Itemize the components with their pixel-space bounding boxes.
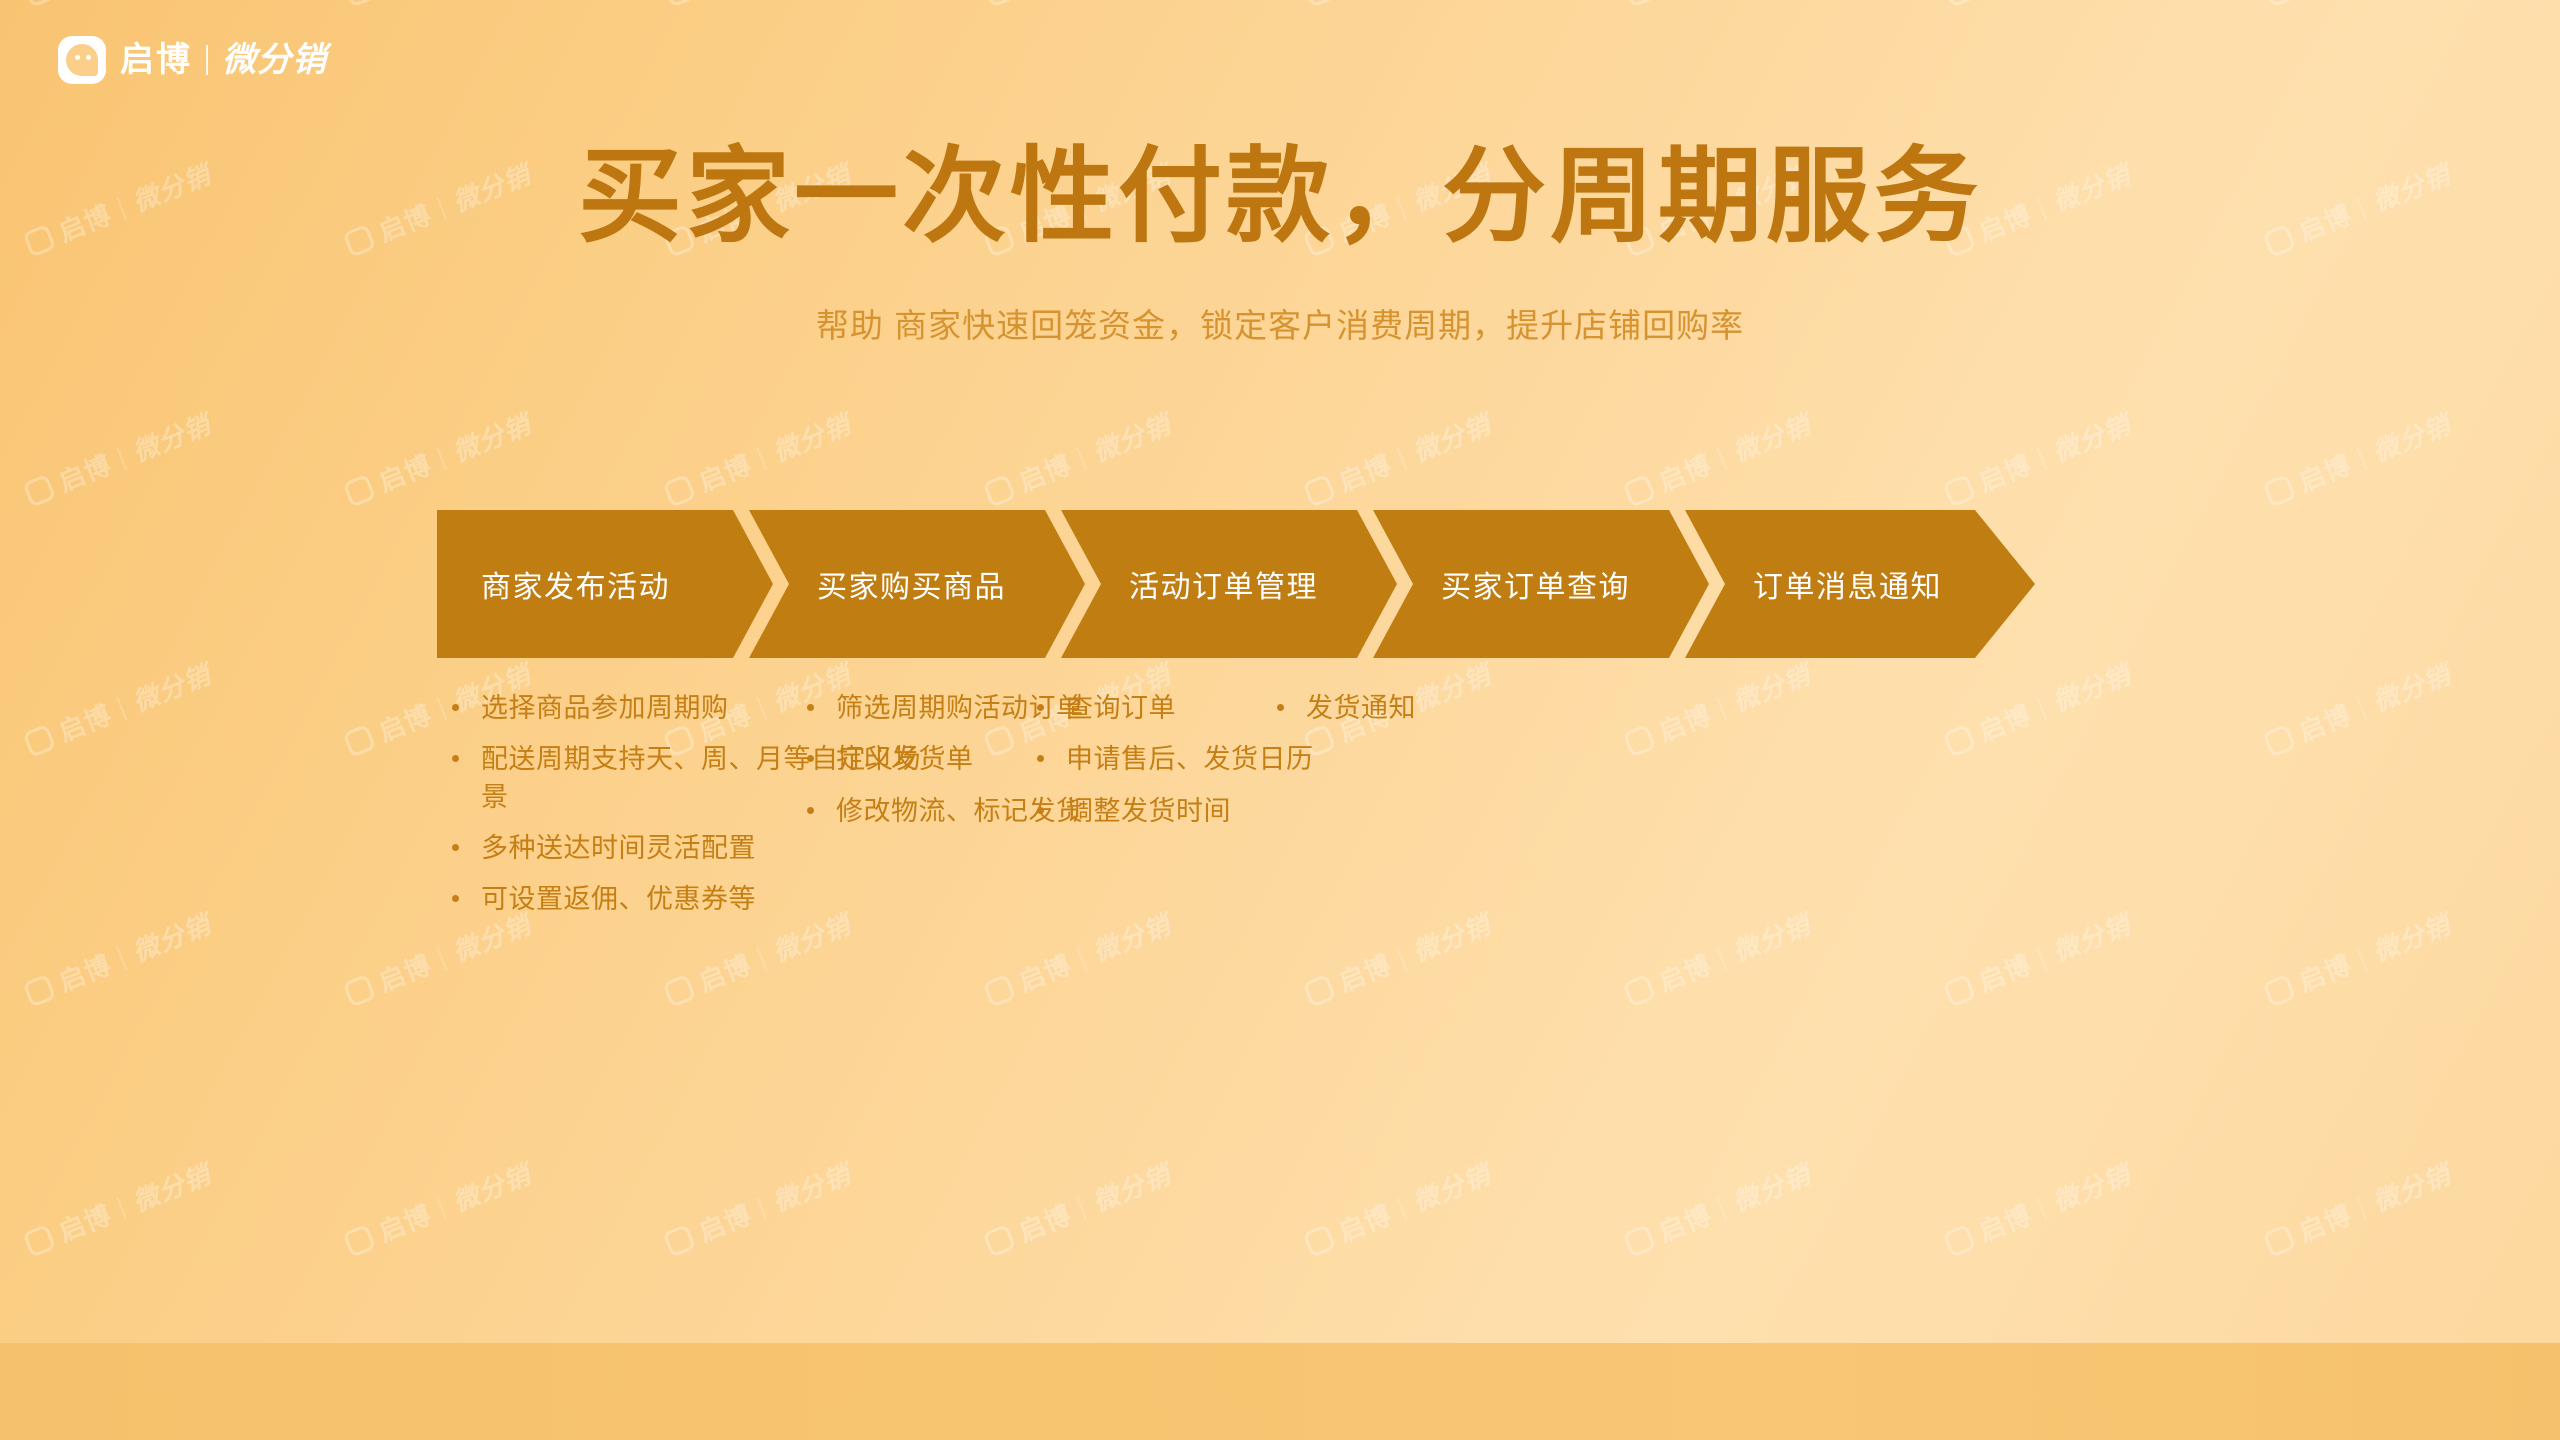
watermark-mark-icon xyxy=(982,1223,1016,1257)
watermark-separator: | xyxy=(2032,941,2051,973)
watermark-separator: | xyxy=(1392,441,1411,473)
watermark-separator: | xyxy=(2352,441,2371,473)
watermark-mark-icon xyxy=(982,473,1016,507)
bullet-dot-icon xyxy=(452,895,459,902)
watermark-name: 启博 xyxy=(373,1195,437,1250)
watermark-mark-icon xyxy=(1622,973,1656,1007)
watermark-logo: 启博|微分销 xyxy=(2260,655,2455,763)
watermark-separator: | xyxy=(752,1191,771,1223)
watermark-separator: | xyxy=(752,441,771,473)
watermark-name: 启博 xyxy=(1333,445,1397,500)
watermark-logo: 启博|微分销 xyxy=(660,405,855,513)
watermark-sub-name: 微分销 xyxy=(2367,405,2456,470)
watermark-sub-name: 微分销 xyxy=(1727,1155,1816,1220)
watermark-sub-name: 微分销 xyxy=(1407,405,1496,470)
watermark-logo: 启博|微分销 xyxy=(1300,0,1495,12)
watermark-name: 启博 xyxy=(1013,945,1077,1000)
watermark-name: 启博 xyxy=(1653,945,1717,1000)
watermark-name: 启博 xyxy=(1013,445,1077,500)
process-flow: 商家发布活动 买家购买商品 活动订单管理 买家订单查询 订单消息通知 xyxy=(437,510,2043,658)
watermark-logo: 启博|微分销 xyxy=(340,405,535,513)
watermark-mark-icon xyxy=(982,973,1016,1007)
watermark-mark-icon xyxy=(2262,0,2296,7)
watermark-name: 启博 xyxy=(373,445,437,500)
watermark-sub-name: 微分销 xyxy=(1407,1155,1496,1220)
watermark-logo: 启博|微分销 xyxy=(2260,1155,2455,1263)
watermark-mark-icon xyxy=(1942,473,1976,507)
watermark-logo: 启博|微分销 xyxy=(980,0,1175,12)
watermark-sub-name: 微分销 xyxy=(2367,655,2456,720)
flow-step-4-label: 买家订单查询 xyxy=(1441,562,1630,606)
watermark-separator: | xyxy=(2352,1191,2371,1223)
watermark-logo: 启博|微分销 xyxy=(340,1155,535,1263)
list-item: 发货通知 xyxy=(1277,690,1607,727)
watermark-separator: | xyxy=(752,941,771,973)
watermark-mark-icon xyxy=(22,1223,56,1257)
smiley-eye-right-icon xyxy=(86,55,91,60)
watermark-name: 启博 xyxy=(2293,695,2357,750)
bullet-dot-icon xyxy=(807,807,814,814)
watermark-mark-icon xyxy=(22,973,56,1007)
watermark-logo: 启博|微分销 xyxy=(20,0,215,12)
watermark-mark-icon xyxy=(662,973,696,1007)
list-item: 申请售后、发货日历 xyxy=(1037,741,1367,778)
qibo-smiley-rounded-square-icon xyxy=(58,36,106,84)
watermark-name: 启博 xyxy=(693,1195,757,1250)
watermark-logo: 启博|微分销 xyxy=(2260,0,2455,12)
bottom-accent-band xyxy=(0,1343,2560,1440)
watermark-logo: 启博|微分销 xyxy=(340,0,535,12)
watermark-separator: | xyxy=(2352,941,2371,973)
slide-canvas: 启博|微分销启博|微分销启博|微分销启博|微分销启博|微分销启博|微分销启博|微… xyxy=(0,0,2560,1440)
watermark-sub-name: 微分销 xyxy=(2367,1155,2456,1220)
flow-step-5-label: 订单消息通知 xyxy=(1753,562,1942,606)
watermark-name: 启博 xyxy=(2293,945,2357,1000)
watermark-mark-icon xyxy=(2262,973,2296,1007)
watermark-separator: | xyxy=(2032,441,2051,473)
watermark-separator: | xyxy=(1712,441,1731,473)
watermark-separator: | xyxy=(1712,1191,1731,1223)
watermark-separator: | xyxy=(1072,441,1091,473)
flow-step-5[interactable]: 订单消息通知 xyxy=(1685,510,2035,658)
watermark-mark-icon xyxy=(1942,973,1976,1007)
watermark-name: 启博 xyxy=(53,945,117,1000)
watermark-sub-name: 微分销 xyxy=(2047,405,2136,470)
watermark-mark-icon xyxy=(1622,0,1656,7)
watermark-logo: 启博|微分销 xyxy=(660,1155,855,1263)
watermark-sub-name: 微分销 xyxy=(1087,1155,1176,1220)
watermark-name: 启博 xyxy=(1653,1195,1717,1250)
watermark-mark-icon xyxy=(342,0,376,7)
page-subtitle: 帮助 商家快速回笼资金，锁定客户消费周期，提升店铺回购率 xyxy=(0,305,2560,348)
watermark-mark-icon xyxy=(1302,473,1336,507)
watermark-name: 启博 xyxy=(2293,1195,2357,1250)
list-item-label: 申请售后、发货日历 xyxy=(1066,741,1367,778)
watermark-mark-icon xyxy=(342,723,376,757)
watermark-logo: 启博|微分销 xyxy=(20,905,215,1013)
watermark-mark-icon xyxy=(342,973,376,1007)
bullet-dot-icon xyxy=(1037,704,1044,711)
watermark-logo: 启博|微分销 xyxy=(1620,405,1815,513)
watermark-name: 启博 xyxy=(53,1195,117,1250)
watermark-mark-icon xyxy=(2262,723,2296,757)
watermark-name: 启博 xyxy=(1973,945,2037,1000)
watermark-logo: 启博|微分销 xyxy=(980,1155,1175,1263)
list-item-label: 调整发货时间 xyxy=(1066,793,1367,830)
brand-divider xyxy=(206,45,208,75)
watermark-sub-name: 微分销 xyxy=(127,655,216,720)
watermark-name: 启博 xyxy=(373,945,437,1000)
bullet-dot-icon xyxy=(452,755,459,762)
watermark-mark-icon xyxy=(22,473,56,507)
watermark-separator: | xyxy=(432,1191,451,1223)
watermark-separator: | xyxy=(432,941,451,973)
watermark-mark-icon xyxy=(982,0,1016,7)
watermark-separator: | xyxy=(112,1191,131,1223)
watermark-name: 启博 xyxy=(1333,945,1397,1000)
watermark-separator: | xyxy=(2032,1191,2051,1223)
watermark-sub-name: 微分销 xyxy=(127,1155,216,1220)
bullet-dot-icon xyxy=(807,704,814,711)
detail-columns: 选择商品参加周期购配送周期支持天、周、月等自定义场景多种送达时间灵活配置可设置返… xyxy=(437,690,2057,930)
watermark-logo: 启博|微分销 xyxy=(20,1155,215,1263)
watermark-logo: 启博|微分销 xyxy=(1940,405,2135,513)
watermark-sub-name: 微分销 xyxy=(2047,1155,2136,1220)
watermark-sub-name: 微分销 xyxy=(767,405,856,470)
watermark-logo: 启博|微分销 xyxy=(1620,0,1815,12)
watermark-mark-icon xyxy=(1942,0,1976,7)
flow-step-4[interactable]: 买家订单查询 xyxy=(1373,510,1709,658)
smiley-eye-left-icon xyxy=(75,55,80,60)
watermark-mark-icon xyxy=(1622,473,1656,507)
watermark-logo: 启博|微分销 xyxy=(980,405,1175,513)
watermark-mark-icon xyxy=(1302,973,1336,1007)
watermark-name: 启博 xyxy=(693,945,757,1000)
bullet-dot-icon xyxy=(452,704,459,711)
bullet-dot-icon xyxy=(1037,807,1044,814)
watermark-sub-name: 微分销 xyxy=(447,405,536,470)
bullet-dot-icon xyxy=(1277,704,1284,711)
watermark-mark-icon xyxy=(22,0,56,7)
watermark-logo: 启博|微分销 xyxy=(1940,1155,2135,1263)
watermark-mark-icon xyxy=(662,0,696,7)
watermark-mark-icon xyxy=(22,723,56,757)
watermark-sub-name: 微分销 xyxy=(2367,905,2456,970)
watermark-mark-icon xyxy=(342,1223,376,1257)
watermark-mark-icon xyxy=(1622,1223,1656,1257)
watermark-mark-icon xyxy=(1942,1223,1976,1257)
watermark-logo: 启博|微分销 xyxy=(2260,405,2455,513)
list-item: 调整发货时间 xyxy=(1037,793,1367,830)
watermark-logo: 启博|微分销 xyxy=(1620,1155,1815,1263)
watermark-separator: | xyxy=(112,441,131,473)
page-title: 买家一次性付款，分周期服务 xyxy=(0,140,2560,254)
watermark-separator: | xyxy=(2352,691,2371,723)
list-item: 可设置返佣、优惠券等 xyxy=(452,881,922,918)
flow-step-1-label: 商家发布活动 xyxy=(481,562,670,606)
bullet-dot-icon xyxy=(1037,755,1044,762)
watermark-name: 启博 xyxy=(373,695,437,750)
watermark-logo: 启博|微分销 xyxy=(1300,1155,1495,1263)
brand-name: 启博 xyxy=(120,43,192,77)
smiley-face-shape xyxy=(66,44,98,76)
watermark-separator: | xyxy=(112,941,131,973)
bullet-dot-icon xyxy=(452,844,459,851)
watermark-mark-icon xyxy=(342,473,376,507)
watermark-logo: 启博|微分销 xyxy=(660,0,855,12)
detail-column-4: 发货通知 xyxy=(1277,690,1607,741)
watermark-mark-icon xyxy=(662,1223,696,1257)
watermark-sub-name: 微分销 xyxy=(1727,405,1816,470)
list-item-label: 发货通知 xyxy=(1306,690,1607,727)
watermark-sub-name: 微分销 xyxy=(767,1155,856,1220)
flow-step-2[interactable]: 买家购买商品 xyxy=(749,510,1085,658)
watermark-separator: | xyxy=(1392,1191,1411,1223)
watermark-separator: | xyxy=(112,691,131,723)
flow-step-2-label: 买家购买商品 xyxy=(817,562,1006,606)
watermark-mark-icon xyxy=(662,473,696,507)
watermark-sub-name: 微分销 xyxy=(127,405,216,470)
watermark-separator: | xyxy=(1392,941,1411,973)
watermark-separator: | xyxy=(432,441,451,473)
watermark-sub-name: 微分销 xyxy=(127,905,216,970)
brand-logo: 启博 微分销 xyxy=(58,30,327,90)
watermark-mark-icon xyxy=(2262,473,2296,507)
watermark-sub-name: 微分销 xyxy=(447,1155,536,1220)
watermark-logo: 启博|微分销 xyxy=(1300,405,1495,513)
flow-step-3[interactable]: 活动订单管理 xyxy=(1061,510,1397,658)
watermark-name: 启博 xyxy=(53,445,117,500)
watermark-logo: 启博|微分销 xyxy=(1940,0,2135,12)
watermark-logo: 启博|微分销 xyxy=(2260,905,2455,1013)
watermark-sub-name: 微分销 xyxy=(2047,905,2136,970)
watermark-name: 启博 xyxy=(2293,445,2357,500)
brand-sub-name: 微分销 xyxy=(222,43,327,77)
watermark-mark-icon xyxy=(2262,1223,2296,1257)
watermark-name: 启博 xyxy=(1973,1195,2037,1250)
watermark-logo: 启博|微分销 xyxy=(20,405,215,513)
watermark-name: 启博 xyxy=(693,445,757,500)
watermark-separator: | xyxy=(1072,1191,1091,1223)
flow-step-3-label: 活动订单管理 xyxy=(1129,562,1318,606)
watermark-name: 启博 xyxy=(1013,1195,1077,1250)
bullet-dot-icon xyxy=(807,755,814,762)
watermark-separator: | xyxy=(1072,941,1091,973)
watermark-name: 启博 xyxy=(53,695,117,750)
watermark-name: 启博 xyxy=(1333,1195,1397,1250)
watermark-sub-name: 微分销 xyxy=(2047,655,2136,720)
watermark-name: 启博 xyxy=(1973,445,2037,500)
watermark-mark-icon xyxy=(1302,1223,1336,1257)
flow-step-1[interactable]: 商家发布活动 xyxy=(437,510,773,658)
watermark-separator: | xyxy=(1712,941,1731,973)
list-item-label: 可设置返佣、优惠券等 xyxy=(481,881,922,918)
watermark-mark-icon xyxy=(1302,0,1336,7)
watermark-name: 启博 xyxy=(1653,445,1717,500)
watermark-sub-name: 微分销 xyxy=(1087,405,1176,470)
watermark-logo: 启博|微分销 xyxy=(20,655,215,763)
